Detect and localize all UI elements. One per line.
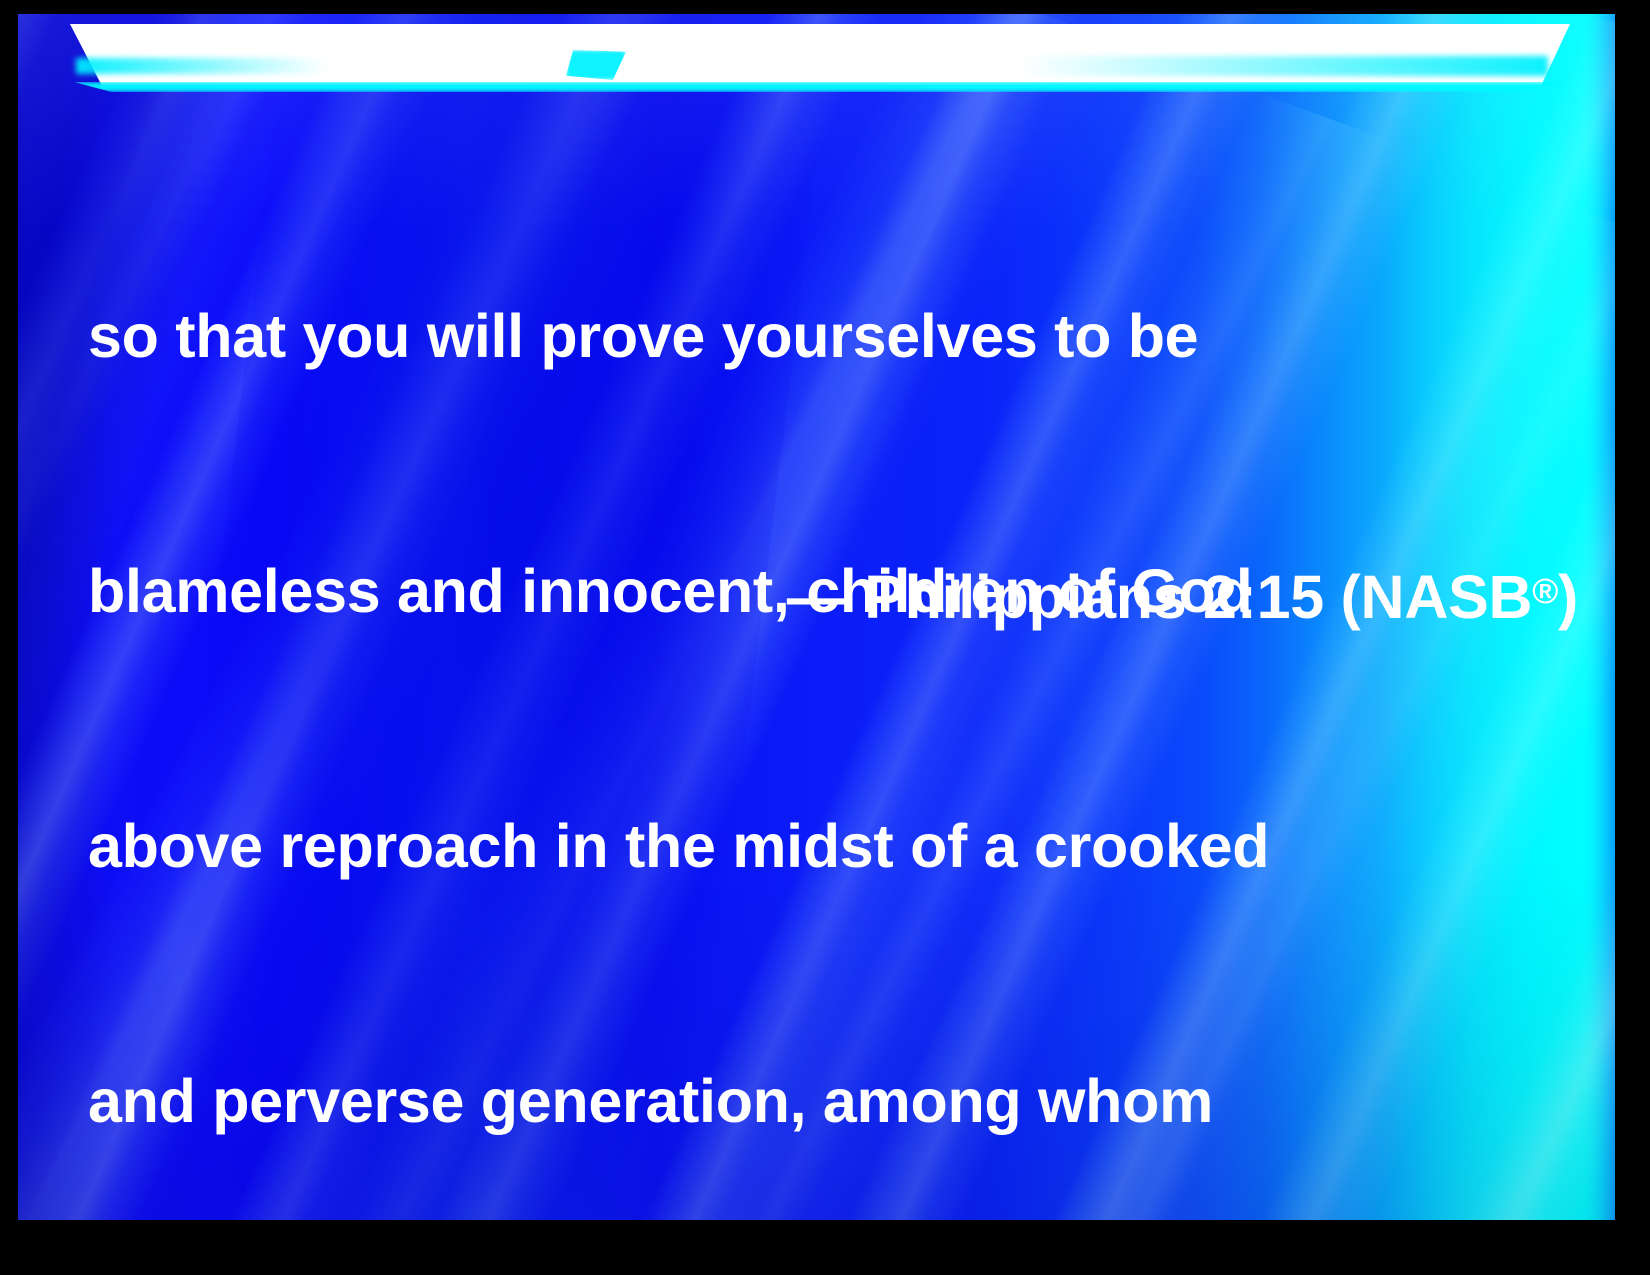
top-light-bar-cyan-right <box>1018 56 1548 76</box>
verse-line-4: and perverse generation, among whom <box>88 1059 1568 1144</box>
registered-trademark-icon: ® <box>1532 572 1558 611</box>
verse-line-1: so that you will prove yourselves to be <box>88 294 1568 379</box>
attribution-translation-open: (NASB <box>1341 563 1533 631</box>
attribution-dash: — <box>787 563 848 631</box>
verse-attribution: — Philippians 2:15 (NASB®) <box>88 549 1578 640</box>
top-light-bar-underline <box>74 82 1564 92</box>
scripture-verse-text: so that you will prove yourselves to be … <box>88 124 1568 1220</box>
top-light-bar-cyan-left <box>76 58 326 74</box>
attribution-book: Philippians <box>864 563 1186 631</box>
attribution-reference: 2:15 <box>1203 563 1324 631</box>
attribution-translation-close: ) <box>1558 563 1578 631</box>
slide-content-area: so that you will prove yourselves to be … <box>18 14 1615 1220</box>
verse-line-3: above reproach in the midst of a crooked <box>88 804 1568 889</box>
slide-canvas: so that you will prove yourselves to be … <box>0 0 1650 1275</box>
